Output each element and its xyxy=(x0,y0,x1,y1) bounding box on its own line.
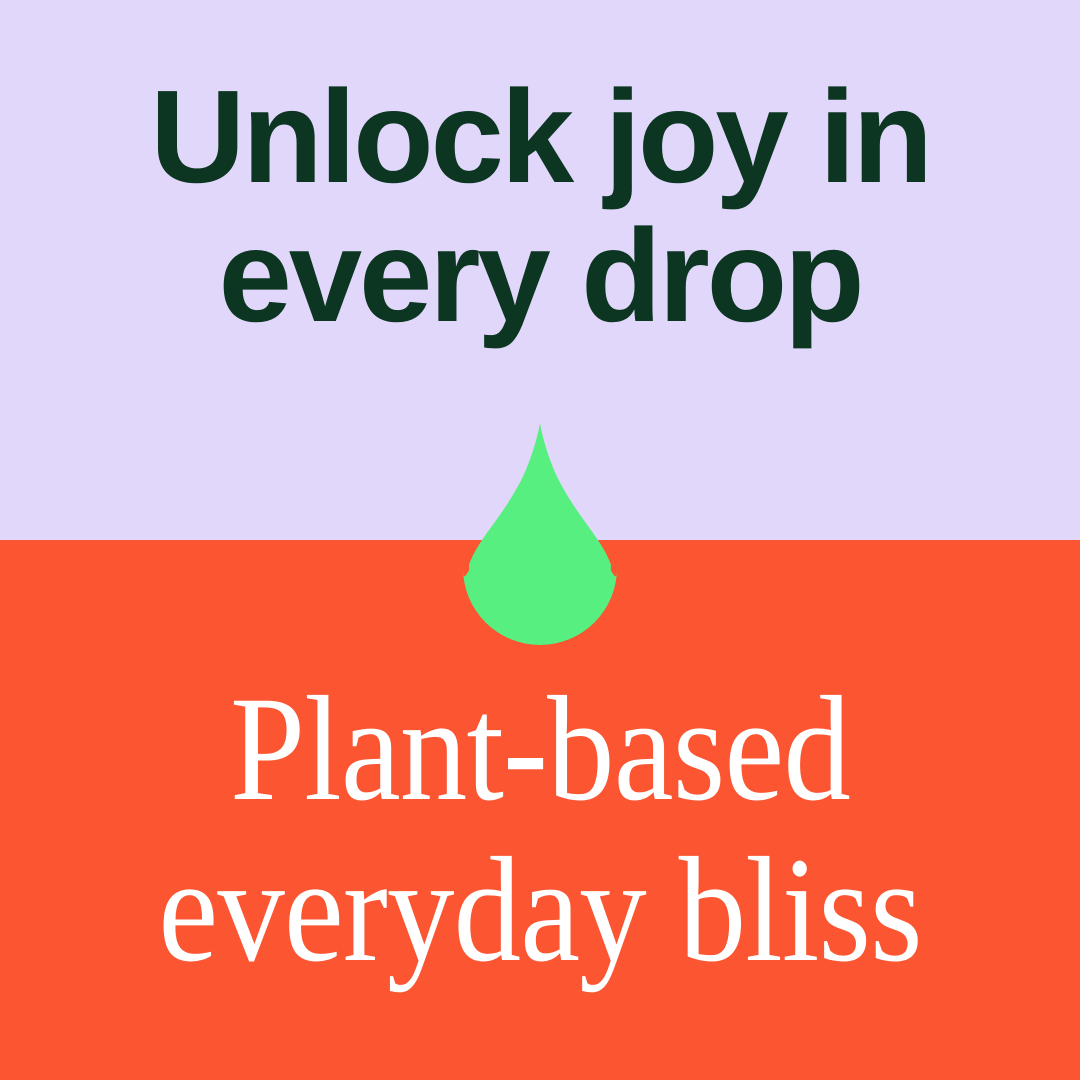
subline: Plant-based everyday bliss xyxy=(54,672,1026,987)
subline-line-2: everyday bliss xyxy=(54,833,1026,988)
poster-canvas: Unlock joy in every drop Plant-based eve… xyxy=(0,0,1080,1080)
headline: Unlock joy in every drop xyxy=(0,72,1080,341)
headline-line-2: every drop xyxy=(0,211,1080,340)
droplet-graphic xyxy=(463,423,617,645)
subline-line-1: Plant-based xyxy=(54,672,1026,827)
water-droplet-icon xyxy=(463,423,617,645)
headline-line-1: Unlock joy in xyxy=(0,72,1080,201)
